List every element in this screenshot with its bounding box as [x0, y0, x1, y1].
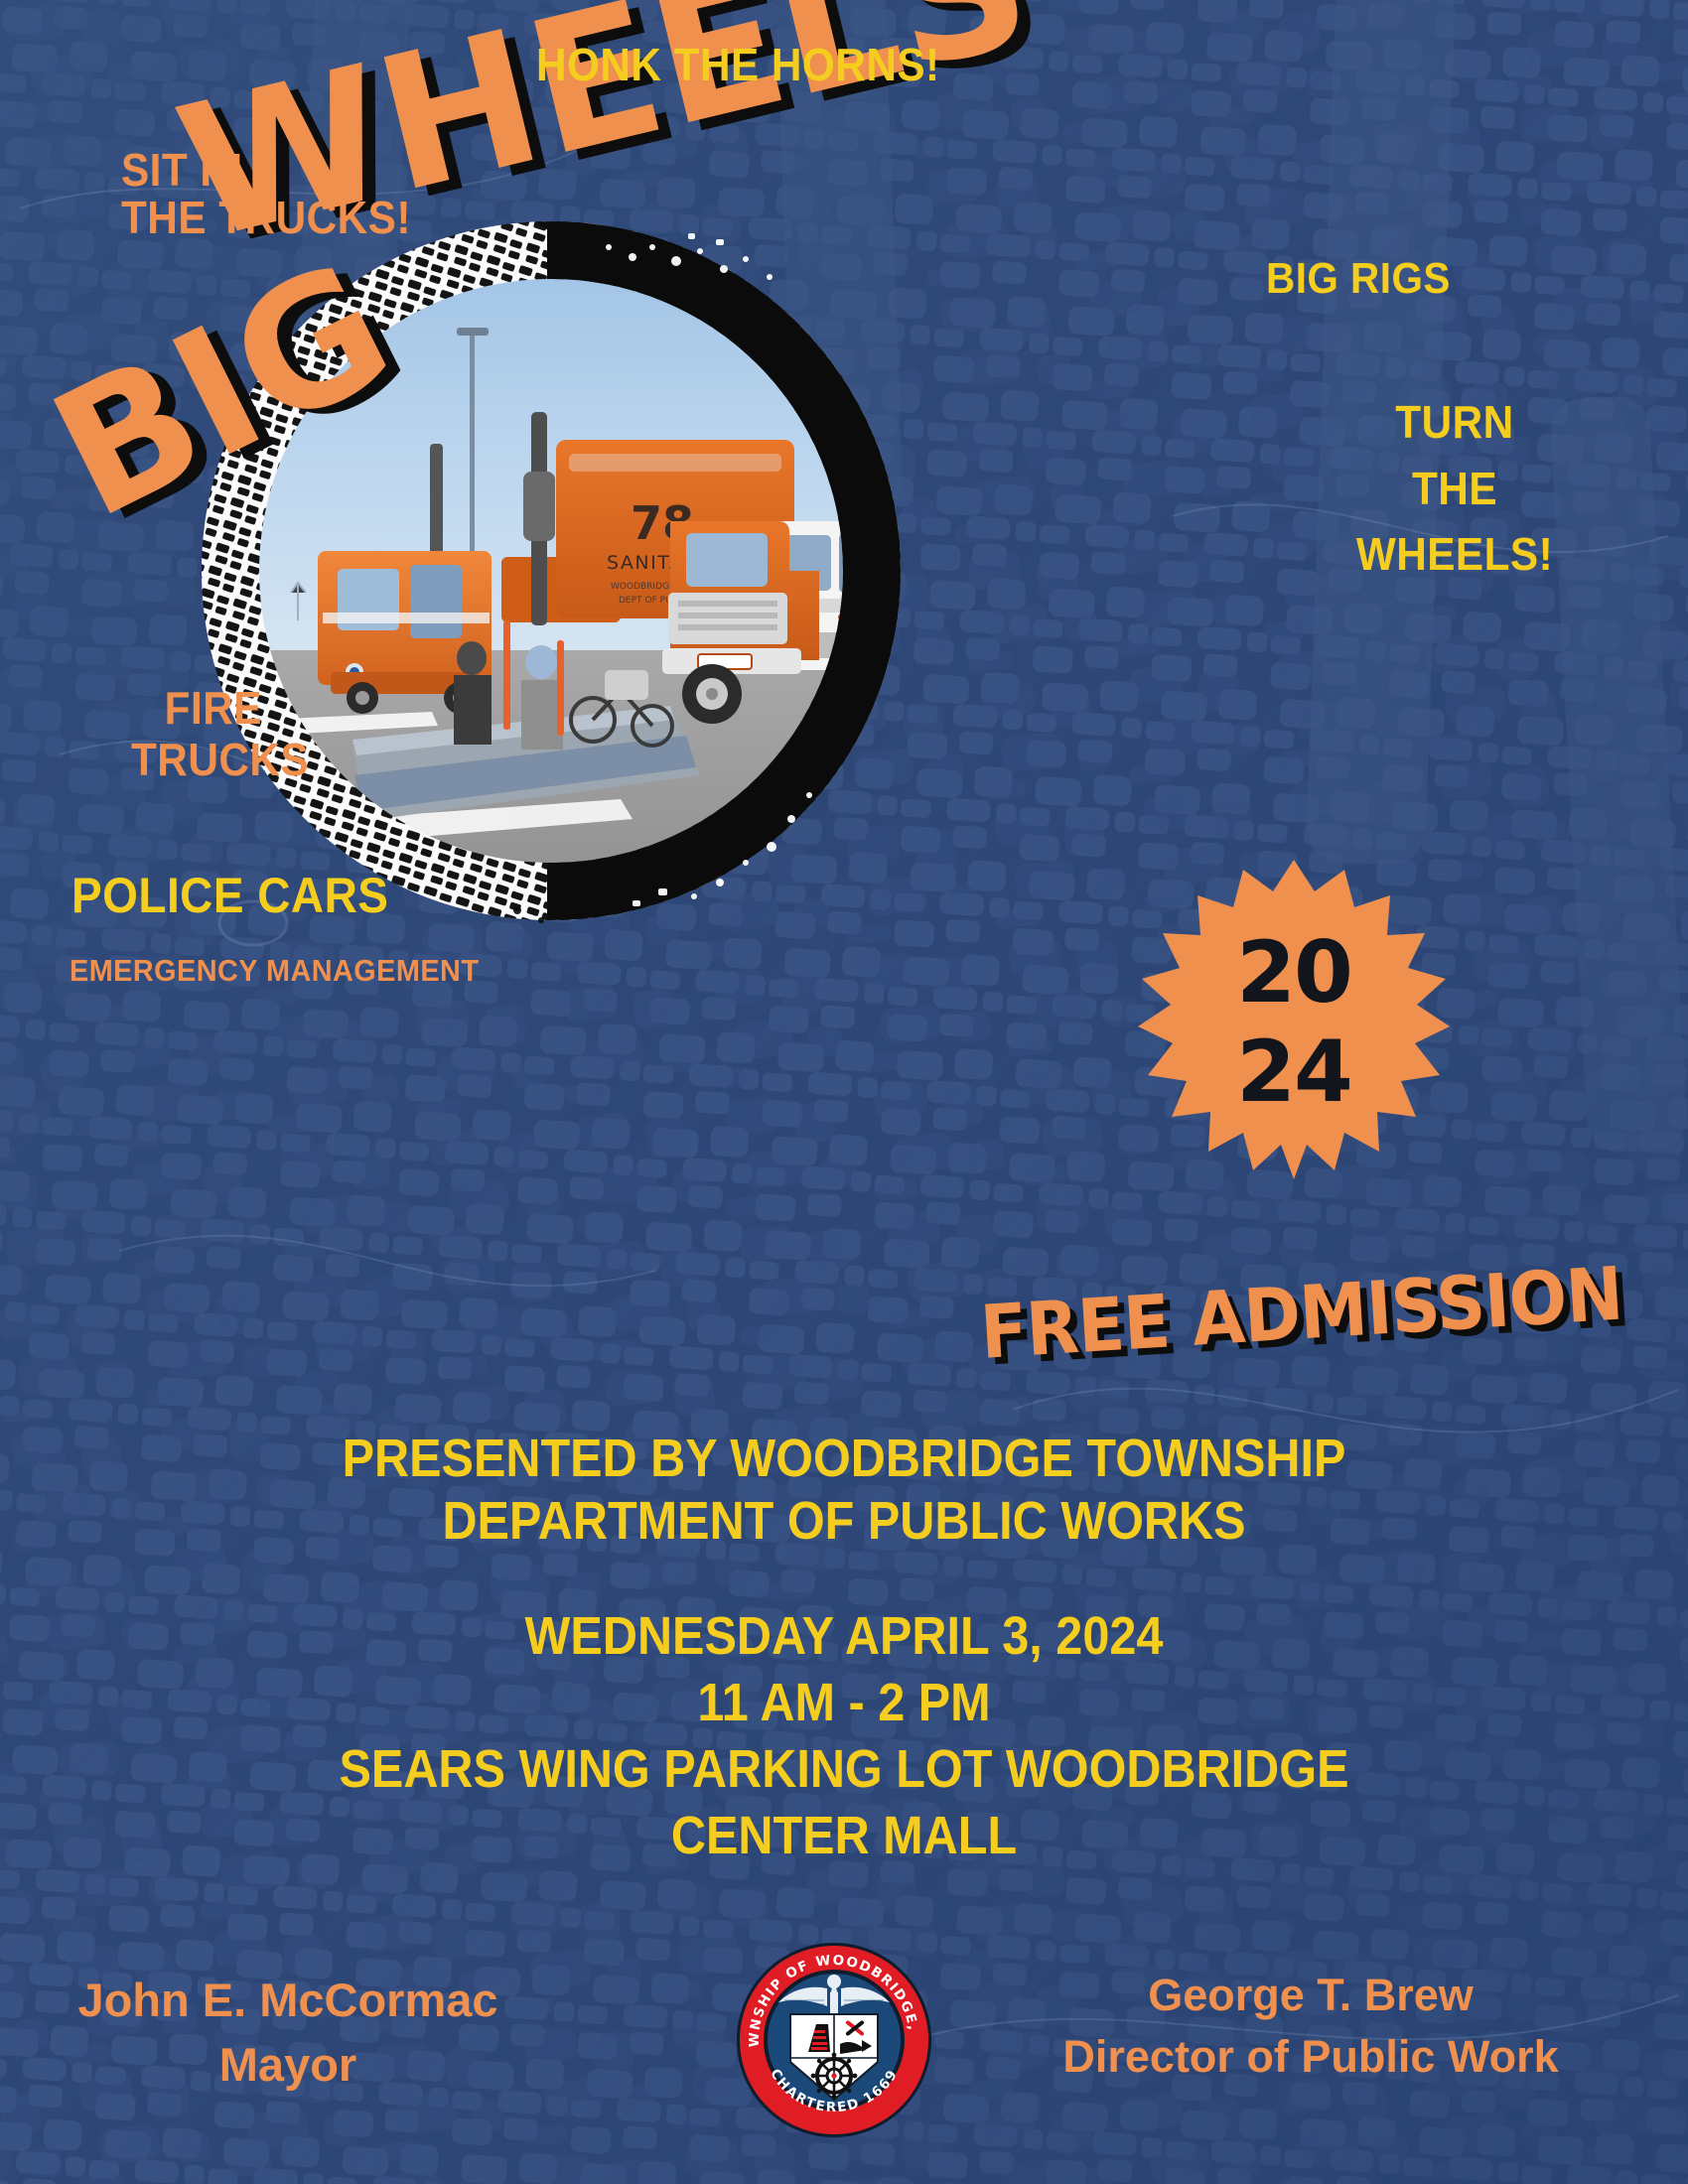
event-time: 11 AM - 2 PM: [84, 1670, 1604, 1736]
dpw-truck-fleet-photo: 78 SANITATION WOODBRIDGE TOWNSHIP DEPT O…: [204, 223, 899, 918]
woodbridge-township-seal: TOWNSHIP OF WOODBRIDGE, N.J. CHARTERED 1…: [735, 1941, 933, 2139]
callout-big-rigs: BIG RIGS: [1266, 256, 1451, 302]
callout-fire-trucks: FIRE TRUCKS: [131, 683, 296, 785]
callout-honk-the-horns: HONK THE HORNS!: [536, 42, 940, 89]
director-title: Director of Public Work: [993, 2026, 1628, 2088]
signatory-dpw-director: George T. Brew Director of Public Work: [993, 1965, 1628, 2088]
details-spacer: [0, 1552, 1688, 1603]
mayor-name: John E. McCormac: [30, 1969, 546, 2033]
callout-police-cars: POLICE CARS: [71, 870, 388, 921]
callout-emergency-management: EMERGENCY MANAGEMENT: [70, 955, 479, 987]
event-date: WEDNESDAY APRIL 3, 2024: [84, 1603, 1604, 1670]
event-location-line1: SEARS WING PARKING LOT WOODBRIDGE: [84, 1736, 1604, 1803]
seal-icon: TOWNSHIP OF WOODBRIDGE, N.J. CHARTERED 1…: [735, 1941, 933, 2139]
mayor-title: Mayor: [30, 2033, 546, 2098]
year-badge-2024: 20 24: [1130, 856, 1458, 1183]
presented-by-line2: DEPARTMENT OF PUBLIC WORKS: [84, 1490, 1604, 1553]
svg-text:SI-19: SI-19: [837, 613, 878, 628]
event-location-line2: CENTER MALL: [84, 1803, 1604, 1869]
year-bottom: 24: [1130, 1032, 1458, 1114]
director-name: George T. Brew: [993, 1965, 1628, 2026]
presented-by-line1: PRESENTED BY WOODBRIDGE TOWNSHIP: [84, 1428, 1604, 1490]
event-details: PRESENTED BY WOODBRIDGE TOWNSHIP DEPARTM…: [0, 1428, 1688, 1869]
callout-sit-in-the-trucks: SIT IN THE TRUCKS!: [121, 147, 411, 242]
signatory-mayor: John E. McCormac Mayor: [30, 1969, 546, 2098]
year-top: 20: [1130, 933, 1458, 1015]
callout-turn-the-wheels: TURN THE WHEELS!: [1340, 389, 1569, 588]
